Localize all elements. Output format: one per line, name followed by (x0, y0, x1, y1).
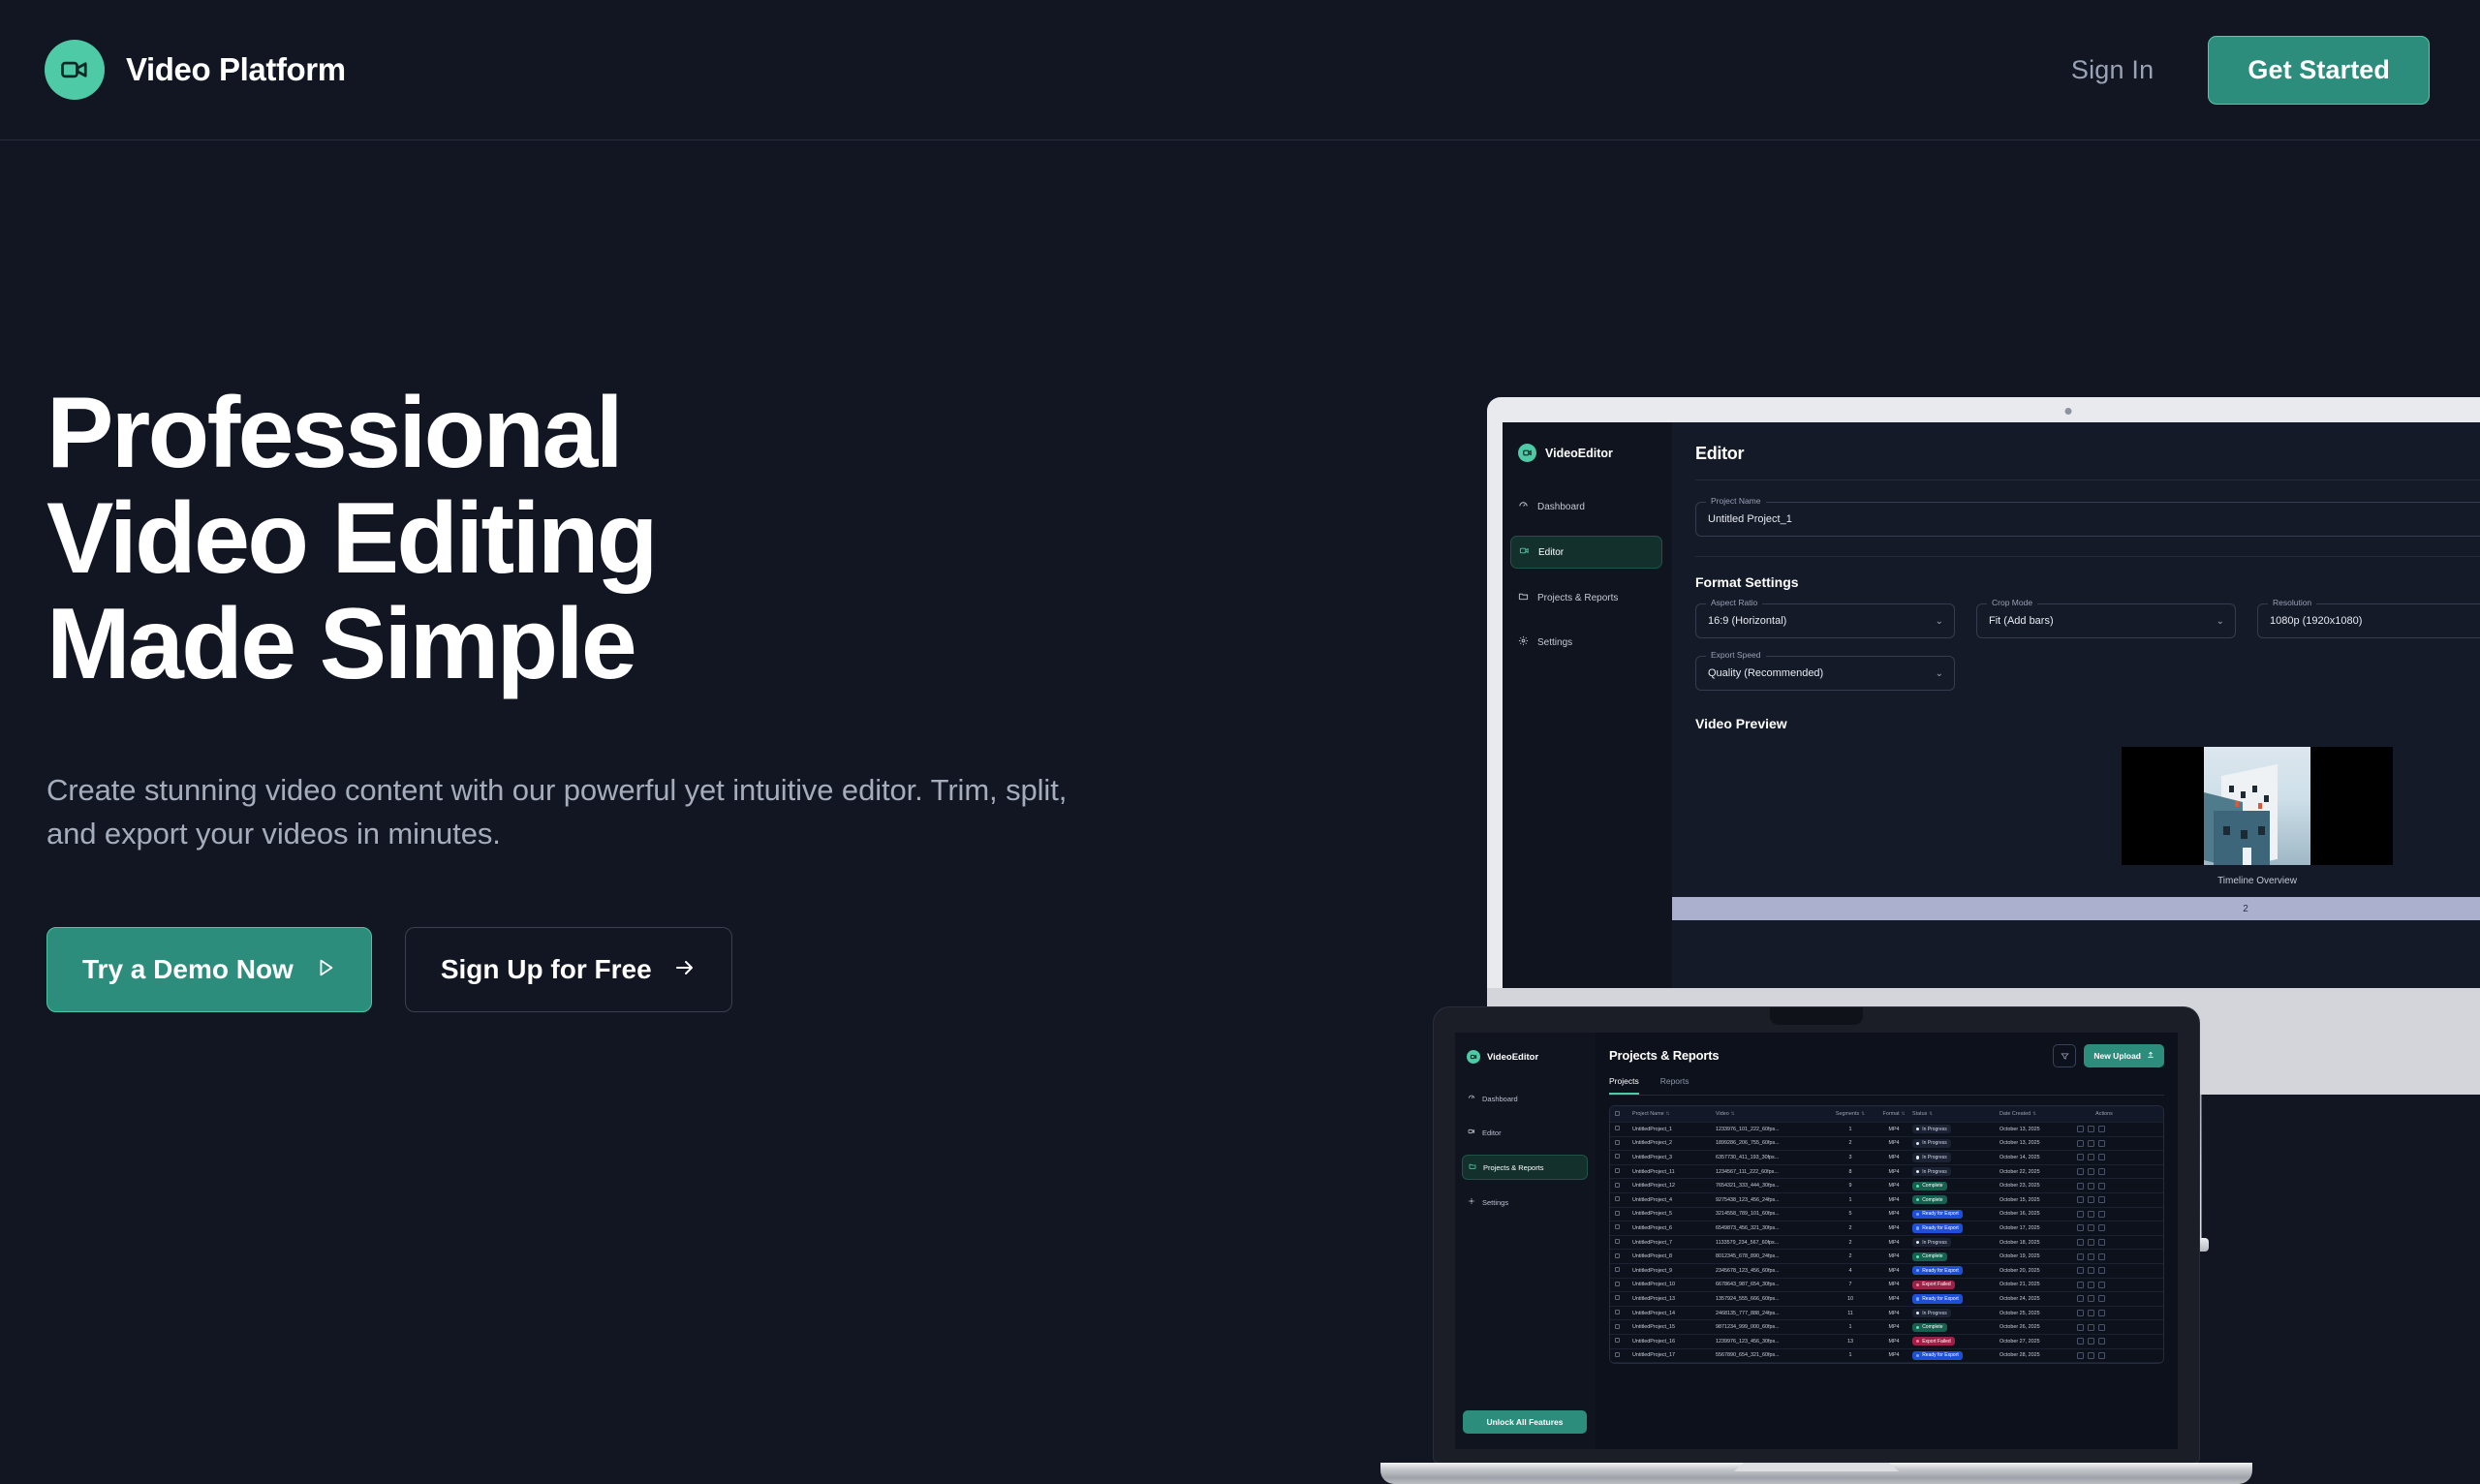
cell-actions (2077, 1183, 2131, 1190)
status-dot-icon (1916, 1354, 1919, 1357)
try-demo-button[interactable]: Try a Demo Now (46, 927, 372, 1012)
status-badge: In Progress (1912, 1309, 1951, 1317)
cell-actions (2077, 1140, 2131, 1147)
project-name-label: Project Name (1706, 496, 1766, 506)
table-row[interactable]: UntitledProject_21899286_206_755_60fps..… (1610, 1137, 2163, 1152)
delete-icon[interactable] (2098, 1267, 2105, 1274)
editor-brand-name: VideoEditor (1545, 447, 1613, 460)
delete-icon[interactable] (2098, 1224, 2105, 1231)
edit-icon[interactable] (2077, 1168, 2084, 1175)
cell-video: 8012345_678_890_24fps... (1716, 1253, 1825, 1259)
delete-icon[interactable] (2098, 1211, 2105, 1218)
download-icon[interactable] (2088, 1253, 2094, 1260)
gear-icon (1518, 635, 1529, 649)
format-fields-row-2: Export Speed Quality (Recommended) ⌄ (1695, 656, 2480, 691)
row-checkbox[interactable] (1615, 1253, 1632, 1260)
table-row[interactable]: UntitledProject_159871234_999_000_60fps.… (1610, 1320, 2163, 1335)
cell-date-created: October 18, 2025 (1999, 1240, 2077, 1246)
cell-status: Complete (1912, 1323, 1999, 1332)
status-dot-icon (1916, 1297, 1919, 1300)
status-badge: Ready for Export (1912, 1223, 1963, 1232)
cell-video: 2345678_123_456_60fps... (1716, 1268, 1825, 1274)
upload-icon (2147, 1051, 2154, 1061)
sort-icon: ⇅ (1666, 1111, 1670, 1116)
cell-date-created: October 26, 2025 (1999, 1324, 2077, 1330)
filter-icon[interactable] (2053, 1044, 2076, 1067)
export-speed-label: Export Speed (1706, 650, 1766, 660)
row-checkbox[interactable] (1615, 1310, 1632, 1316)
status-dot-icon (1916, 1269, 1919, 1272)
crop-mode-value: Fit (Add bars) (1989, 615, 2054, 627)
download-icon[interactable] (2088, 1295, 2094, 1302)
delete-icon[interactable] (2098, 1338, 2105, 1345)
aspect-ratio-select[interactable]: Aspect Ratio 16:9 (Horizontal) ⌄ (1695, 603, 1955, 638)
edit-icon[interactable] (2077, 1183, 2084, 1190)
header-actions: Sign In Get Started (2071, 36, 2430, 105)
row-checkbox[interactable] (1615, 1282, 1632, 1288)
format-settings-title: Format Settings (1695, 574, 2480, 590)
cell-status: Ready for Export (1912, 1266, 1999, 1275)
cell-status: Ready for Export (1912, 1210, 1999, 1219)
sort-icon: ⇅ (1861, 1111, 1865, 1116)
table-row[interactable]: UntitledProject_131357924_555_666_60fps.… (1610, 1292, 2163, 1307)
status-dot-icon (1916, 1198, 1919, 1201)
cell-date-created: October 21, 2025 (1999, 1282, 2077, 1287)
delete-icon[interactable] (2098, 1324, 2105, 1331)
status-dot-icon (1916, 1226, 1919, 1229)
cell-date-created: October 14, 2025 (1999, 1155, 2077, 1160)
row-checkbox[interactable] (1615, 1338, 1632, 1345)
cell-project-name: UntitledProject_14 (1632, 1311, 1716, 1316)
table-row[interactable]: UntitledProject_11233976_101_222_60fps..… (1610, 1123, 2163, 1137)
hero-title-line-1: Professional (46, 381, 1073, 486)
resolution-select[interactable]: Resolution 1080p (1920x1080) ⌄ (2257, 603, 2480, 638)
cell-date-created: October 20, 2025 (1999, 1268, 2077, 1274)
laptop-main: Projects & Reports New Upload Projects R… (1596, 1033, 2178, 1449)
download-icon[interactable] (2088, 1224, 2094, 1231)
edit-icon[interactable] (2077, 1211, 2084, 1218)
row-checkbox[interactable] (1615, 1183, 1632, 1190)
cell-segments: 10 (1825, 1296, 1875, 1302)
cell-actions (2077, 1282, 2131, 1288)
sign-up-label: Sign Up for Free (441, 956, 652, 983)
cell-segments: 5 (1825, 1211, 1875, 1217)
hero-title-line-3: Made Simple (46, 592, 1073, 697)
table-row[interactable]: UntitledProject_49275438_123_456_24fps..… (1610, 1193, 2163, 1208)
sidebar-label: Editor (1538, 547, 1564, 558)
download-icon[interactable] (2088, 1154, 2094, 1160)
delete-icon[interactable] (2098, 1352, 2105, 1359)
table-row[interactable]: UntitledProject_71133579_234_567_60fps..… (1610, 1236, 2163, 1251)
edit-icon[interactable] (2077, 1282, 2084, 1288)
download-icon[interactable] (2088, 1352, 2094, 1359)
download-icon[interactable] (2088, 1140, 2094, 1147)
download-icon[interactable] (2088, 1282, 2094, 1288)
column-video[interactable]: Video⇅ (1716, 1111, 1825, 1117)
timeline-bar[interactable]: 2 (1672, 897, 2480, 920)
cell-segments: 2 (1825, 1140, 1875, 1146)
sidebar-item-editor[interactable]: Editor (1462, 1121, 1588, 1144)
cell-project-name: UntitledProject_6 (1632, 1225, 1716, 1231)
status-dot-icon (1916, 1283, 1919, 1286)
table-row[interactable]: UntitledProject_127654321_333_444_30fps.… (1610, 1179, 2163, 1193)
cell-segments: 4 (1825, 1268, 1875, 1274)
cell-format: MP4 (1875, 1324, 1912, 1330)
delete-icon[interactable] (2098, 1140, 2105, 1147)
row-checkbox[interactable] (1615, 1140, 1632, 1147)
cell-video: 1234567_111_222_60fps... (1716, 1169, 1825, 1175)
edit-icon[interactable] (2077, 1324, 2084, 1331)
cell-format: MP4 (1875, 1253, 1912, 1259)
table-row[interactable]: UntitledProject_175567890_654_321_60fps.… (1610, 1349, 2163, 1364)
cell-segments: 3 (1825, 1155, 1875, 1160)
delete-icon[interactable] (2098, 1183, 2105, 1190)
cell-segments: 1 (1825, 1127, 1875, 1132)
delete-icon[interactable] (2098, 1196, 2105, 1203)
sidebar-item-projects-reports[interactable]: Projects & Reports (1510, 582, 1662, 613)
sidebar-label: Dashboard (1482, 1095, 1518, 1103)
cell-date-created: October 23, 2025 (1999, 1183, 2077, 1189)
hero-cta-row: Try a Demo Now Sign Up for Free (46, 927, 1073, 1012)
row-checkbox[interactable] (1615, 1295, 1632, 1302)
cell-status: In Progress (1912, 1238, 1999, 1247)
cell-status: Ready for Export (1912, 1223, 1999, 1232)
cell-actions (2077, 1224, 2131, 1231)
cell-video: 6678643_987_654_30fps... (1716, 1282, 1825, 1287)
cell-format: MP4 (1875, 1352, 1912, 1358)
sort-icon: ⇅ (1902, 1111, 1906, 1116)
cell-status: Complete (1912, 1195, 1999, 1204)
column-segments[interactable]: Segments⇅ (1825, 1111, 1875, 1117)
cell-project-name: UntitledProject_1 (1632, 1127, 1716, 1132)
status-badge: Export Failed (1912, 1281, 1955, 1289)
cell-actions (2077, 1295, 2131, 1302)
delete-icon[interactable] (2098, 1126, 2105, 1132)
export-speed-select[interactable]: Export Speed Quality (Recommended) ⌄ (1695, 656, 1955, 691)
sidebar-item-settings[interactable]: Settings (1510, 627, 1662, 658)
aspect-ratio-label: Aspect Ratio (1706, 598, 1762, 607)
cell-date-created: October 28, 2025 (1999, 1352, 2077, 1358)
row-checkbox[interactable] (1615, 1324, 1632, 1331)
download-icon[interactable] (2088, 1126, 2094, 1132)
delete-icon[interactable] (2098, 1168, 2105, 1175)
status-badge: In Progress (1912, 1139, 1951, 1148)
status-badge: Complete (1912, 1195, 1947, 1204)
cell-project-name: UntitledProject_5 (1632, 1211, 1716, 1217)
hero-section: Professional Video Editing Made Simple C… (46, 381, 1073, 1012)
status-badge: Export Failed (1912, 1337, 1955, 1345)
cell-segments: 11 (1825, 1311, 1875, 1316)
page-title: Professional Video Editing Made Simple (46, 381, 1073, 698)
laptop-notch (1770, 1007, 1863, 1025)
cell-segments: 13 (1825, 1339, 1875, 1345)
cell-video: 1239976_123_456_30fps... (1716, 1339, 1825, 1345)
edit-icon[interactable] (2077, 1338, 2084, 1345)
cell-status: Complete (1912, 1252, 1999, 1261)
editor-brand: VideoEditor (1503, 444, 1672, 462)
gear-icon (1468, 1197, 1475, 1207)
tab-projects[interactable]: Projects (1609, 1076, 1639, 1095)
preview-thumbnail (2204, 747, 2310, 865)
sidebar-item-projects-reports[interactable]: Projects & Reports (1462, 1155, 1588, 1180)
download-icon[interactable] (2088, 1338, 2094, 1345)
cell-segments: 2 (1825, 1240, 1875, 1246)
edit-icon[interactable] (2077, 1267, 2084, 1274)
cell-project-name: UntitledProject_12 (1632, 1183, 1716, 1189)
delete-icon[interactable] (2098, 1295, 2105, 1302)
table-row[interactable]: UntitledProject_111234567_111_222_60fps.… (1610, 1165, 2163, 1180)
video-camera-icon (1518, 444, 1536, 462)
cell-format: MP4 (1875, 1282, 1912, 1287)
cell-status: In Progress (1912, 1139, 1999, 1148)
table-row[interactable]: UntitledProject_36357730_411_193_30fps..… (1610, 1151, 2163, 1165)
chevron-down-icon: ⌄ (1936, 616, 1943, 627)
status-badge: In Progress (1912, 1238, 1951, 1247)
status-dot-icon (1916, 1312, 1919, 1314)
cell-format: MP4 (1875, 1183, 1912, 1189)
row-checkbox[interactable] (1615, 1211, 1632, 1218)
sidebar-item-settings[interactable]: Settings (1462, 1190, 1588, 1214)
download-icon[interactable] (2088, 1310, 2094, 1316)
column-project-name[interactable]: Project Name⇅ (1632, 1111, 1716, 1117)
cell-status: In Progress (1912, 1125, 1999, 1133)
arrow-right-icon (673, 956, 697, 984)
video-player-preview[interactable] (2122, 747, 2393, 865)
hero-subtitle: Create stunning video content with our p… (46, 768, 1071, 857)
aspect-ratio-value: 16:9 (Horizontal) (1708, 615, 1786, 627)
cell-format: MP4 (1875, 1339, 1912, 1345)
download-icon[interactable] (2088, 1211, 2094, 1218)
resolution-label: Resolution (2268, 598, 2316, 607)
edit-icon[interactable] (2077, 1140, 2084, 1147)
edit-icon[interactable] (2077, 1126, 2084, 1132)
cell-video: 9871234_999_000_60fps... (1716, 1324, 1825, 1330)
project-name-value: Untitled Project_1 (1708, 513, 1792, 525)
cell-format: MP4 (1875, 1311, 1912, 1316)
status-dot-icon (1916, 1156, 1919, 1159)
table-row[interactable]: UntitledProject_53214558_789_101_60fps..… (1610, 1208, 2163, 1222)
monitor-screen: VideoEditor Dashboard Editor Projects & … (1503, 422, 2480, 988)
get-started-button[interactable]: Get Started (2208, 36, 2430, 105)
cell-video: 6357730_411_193_30fps... (1716, 1155, 1825, 1160)
row-checkbox[interactable] (1615, 1267, 1632, 1274)
cell-segments: 1 (1825, 1324, 1875, 1330)
folder-icon (1469, 1162, 1476, 1172)
laptop-brand: VideoEditor (1455, 1050, 1596, 1064)
sign-in-link[interactable]: Sign In (2071, 55, 2154, 85)
sign-up-button[interactable]: Sign Up for Free (405, 927, 732, 1012)
cell-status: Export Failed (1912, 1281, 1999, 1289)
cell-video: 9275438_123_456_24fps... (1716, 1197, 1825, 1203)
cell-project-name: UntitledProject_4 (1632, 1197, 1716, 1203)
cell-date-created: October 22, 2025 (1999, 1169, 2077, 1175)
cell-format: MP4 (1875, 1240, 1912, 1246)
cell-format: MP4 (1875, 1211, 1912, 1217)
laptop-brand-name: VideoEditor (1487, 1052, 1538, 1063)
status-dot-icon (1916, 1213, 1919, 1216)
cell-project-name: UntitledProject_9 (1632, 1268, 1716, 1274)
delete-icon[interactable] (2098, 1253, 2105, 1260)
row-checkbox[interactable] (1615, 1154, 1632, 1160)
export-speed-value: Quality (Recommended) (1708, 667, 1823, 679)
table-row[interactable]: UntitledProject_142468135_777_888_24fps.… (1610, 1307, 2163, 1321)
chevron-down-icon: ⌄ (1936, 668, 1943, 679)
desktop-monitor-mockup: VideoEditor Dashboard Editor Projects & … (1487, 397, 2480, 988)
row-checkbox[interactable] (1615, 1126, 1632, 1132)
row-checkbox[interactable] (1615, 1224, 1632, 1231)
laptop-base (1380, 1463, 2252, 1484)
cell-format: MP4 (1875, 1140, 1912, 1146)
cell-actions (2077, 1154, 2131, 1160)
editor-sidebar: VideoEditor Dashboard Editor Projects & … (1503, 422, 1672, 988)
cell-date-created: October 25, 2025 (1999, 1311, 2077, 1316)
table-header-row: Project Name⇅ Video⇅ Segments⇅ Format⇅ S… (1610, 1106, 2163, 1123)
sidebar-label: Dashboard (1537, 502, 1585, 512)
brand-logo[interactable]: Video Platform (45, 40, 346, 100)
column-date-created[interactable]: Date Created⇅ (1999, 1111, 2077, 1117)
table-row[interactable]: UntitledProject_66549873_456_321_30fps..… (1610, 1221, 2163, 1236)
table-row[interactable]: UntitledProject_88012345_678_890_24fps..… (1610, 1250, 2163, 1264)
edit-icon[interactable] (2077, 1310, 2084, 1316)
editor-main: Editor Save Export Project Name Untitled… (1672, 422, 2480, 988)
cell-video: 1357924_555_666_60fps... (1716, 1296, 1825, 1302)
cell-segments: 8 (1825, 1169, 1875, 1175)
edit-icon[interactable] (2077, 1253, 2084, 1260)
download-icon[interactable] (2088, 1196, 2094, 1203)
cell-format: MP4 (1875, 1169, 1912, 1175)
tab-reports[interactable]: Reports (1660, 1076, 1689, 1095)
new-upload-label: New Upload (2093, 1051, 2141, 1061)
brand-name: Video Platform (126, 51, 346, 88)
delete-icon[interactable] (2098, 1282, 2105, 1288)
cell-format: MP4 (1875, 1197, 1912, 1203)
cell-project-name: UntitledProject_13 (1632, 1296, 1716, 1302)
column-actions: Actions (2077, 1111, 2131, 1117)
cell-actions (2077, 1196, 2131, 1203)
sidebar-item-dashboard[interactable]: Dashboard (1510, 491, 1662, 522)
cell-video: 1133579_234_567_60fps... (1716, 1240, 1825, 1246)
cell-format: MP4 (1875, 1127, 1912, 1132)
download-icon[interactable] (2088, 1324, 2094, 1331)
cell-status: In Progress (1912, 1309, 1999, 1317)
cell-status: Ready for Export (1912, 1294, 1999, 1303)
cell-format: MP4 (1875, 1268, 1912, 1274)
divider (1695, 556, 2480, 557)
status-badge: Ready for Export (1912, 1351, 1963, 1360)
laptop-toolbar: New Upload (2053, 1044, 2164, 1067)
table-row[interactable]: UntitledProject_92345678_123_456_60fps..… (1610, 1264, 2163, 1279)
select-all-checkbox[interactable] (1615, 1111, 1632, 1118)
column-status[interactable]: Status⇅ (1912, 1111, 1999, 1117)
hero-title-line-2: Video Editing (46, 486, 1073, 592)
delete-icon[interactable] (2098, 1310, 2105, 1316)
timeline-overview-caption: Timeline Overview (1695, 876, 2480, 886)
edit-icon[interactable] (2077, 1154, 2084, 1160)
cell-date-created: October 16, 2025 (1999, 1211, 2077, 1217)
play-icon (315, 956, 336, 983)
delete-icon[interactable] (2098, 1239, 2105, 1246)
format-fields-row-1: Aspect Ratio 16:9 (Horizontal) ⌄ Crop Mo… (1695, 603, 2480, 638)
new-upload-button[interactable]: New Upload (2084, 1044, 2164, 1067)
status-badge: In Progress (1912, 1125, 1951, 1133)
table-row[interactable]: UntitledProject_106678643_987_654_30fps.… (1610, 1279, 2163, 1293)
row-checkbox[interactable] (1615, 1168, 1632, 1175)
cell-segments: 7 (1825, 1282, 1875, 1287)
cell-segments: 9 (1825, 1183, 1875, 1189)
try-demo-label: Try a Demo Now (82, 956, 294, 983)
laptop-trackpad-notch (1734, 1463, 1899, 1471)
sidebar-label: Projects & Reports (1537, 593, 1618, 603)
status-dot-icon (1916, 1340, 1919, 1343)
cell-video: 1899286_206_755_60fps... (1716, 1140, 1825, 1146)
cell-segments: 1 (1825, 1197, 1875, 1203)
cell-status: Ready for Export (1912, 1351, 1999, 1360)
resolution-value: 1080p (1920x1080) (2270, 615, 2362, 627)
cell-project-name: UntitledProject_2 (1632, 1140, 1716, 1146)
column-format[interactable]: Format⇅ (1875, 1111, 1912, 1117)
product-screenshot-scene: VideoEditor Dashboard Editor Projects & … (1317, 378, 2480, 1191)
crop-mode-select[interactable]: Crop Mode Fit (Add bars) ⌄ (1976, 603, 2236, 638)
cell-actions (2077, 1211, 2131, 1218)
sidebar-label: Settings (1537, 637, 1572, 648)
folder-icon (1518, 591, 1529, 604)
download-icon[interactable] (2088, 1168, 2094, 1175)
laptop-mockup: VideoEditor Dashboard Editor Projects & … (1434, 1007, 2199, 1484)
project-name-field[interactable]: Project Name Untitled Project_1 (1695, 502, 2480, 537)
edit-icon[interactable] (2077, 1224, 2084, 1231)
row-checkbox[interactable] (1615, 1352, 1632, 1359)
sidebar-item-editor[interactable]: Editor (1510, 536, 1662, 569)
sidebar-item-dashboard[interactable]: Dashboard (1462, 1087, 1588, 1110)
laptop-sidebar: VideoEditor Dashboard Editor Projects & … (1455, 1033, 1596, 1449)
table-row[interactable]: UntitledProject_161239976_123_456_30fps.… (1610, 1335, 2163, 1349)
download-icon[interactable] (2088, 1183, 2094, 1190)
cell-status: In Progress (1912, 1153, 1999, 1161)
cell-format: MP4 (1875, 1225, 1912, 1231)
cell-actions (2077, 1239, 2131, 1246)
cell-video: 3214558_789_101_60fps... (1716, 1211, 1825, 1217)
laptop-tabs: Projects Reports (1609, 1076, 2164, 1096)
status-badge: In Progress (1912, 1167, 1951, 1176)
laptop-screen: VideoEditor Dashboard Editor Projects & … (1455, 1033, 2178, 1449)
cell-video: 7654321_333_444_30fps... (1716, 1183, 1825, 1189)
video-preview-header: Video Preview Video player size (1695, 716, 2480, 731)
unlock-all-features-button[interactable]: Unlock All Features (1463, 1410, 1587, 1434)
cell-actions (2077, 1253, 2131, 1260)
sort-icon: ⇅ (1929, 1111, 1933, 1116)
cell-date-created: October 17, 2025 (1999, 1225, 2077, 1231)
edit-icon[interactable] (2077, 1196, 2084, 1203)
row-checkbox[interactable] (1615, 1196, 1632, 1203)
chevron-down-icon: ⌄ (2216, 616, 2224, 627)
status-dot-icon (1916, 1128, 1919, 1130)
download-icon[interactable] (2088, 1267, 2094, 1274)
editor-page-title: Editor (1695, 444, 2480, 464)
cell-project-name: UntitledProject_3 (1632, 1155, 1716, 1160)
edit-icon[interactable] (2077, 1295, 2084, 1302)
edit-icon[interactable] (2077, 1239, 2084, 1246)
delete-icon[interactable] (2098, 1154, 2105, 1160)
cell-segments: 2 (1825, 1253, 1875, 1259)
cell-video: 2468135_777_888_24fps... (1716, 1311, 1825, 1316)
status-badge: Complete (1912, 1252, 1947, 1261)
download-icon[interactable] (2088, 1239, 2094, 1246)
cell-actions (2077, 1324, 2131, 1331)
edit-icon[interactable] (2077, 1352, 2084, 1359)
cell-date-created: October 24, 2025 (1999, 1296, 2077, 1302)
video-camera-icon (1467, 1050, 1480, 1064)
row-checkbox[interactable] (1615, 1239, 1632, 1246)
